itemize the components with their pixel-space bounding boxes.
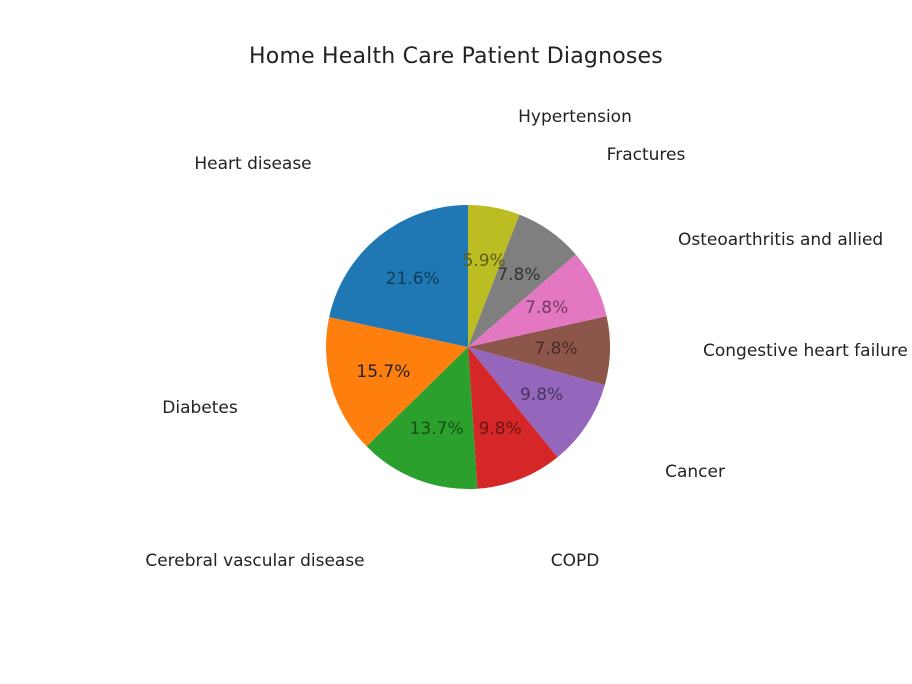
pie-chart-figure: Home Health Care Patient Diagnoses 5.9%H… <box>0 0 912 684</box>
pie-svg <box>0 0 912 684</box>
pie-plot-area: 5.9%Hypertension7.8%Fractures7.8%Osteoar… <box>0 0 912 684</box>
